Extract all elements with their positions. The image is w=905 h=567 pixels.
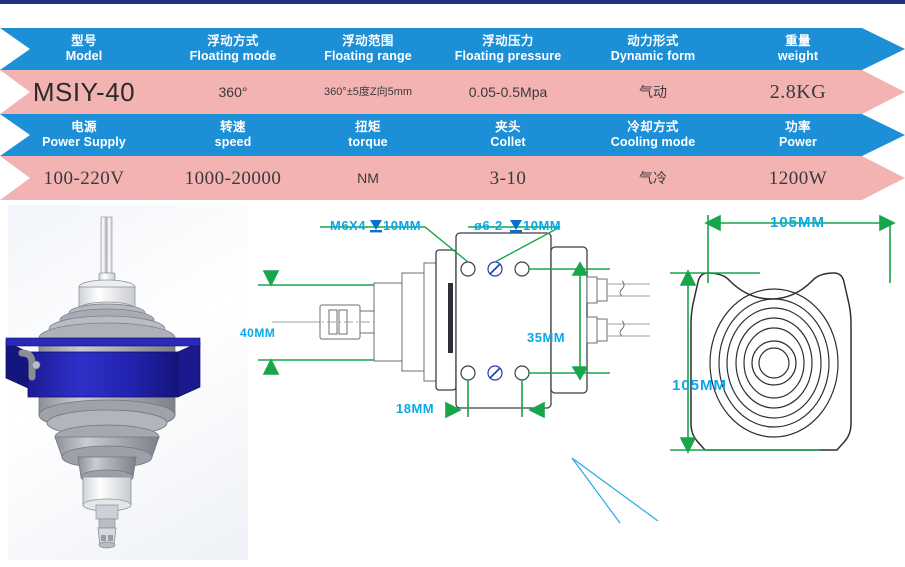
label-hole-spec: ø6-2: [474, 218, 503, 233]
value-cell-torque: NM: [298, 156, 438, 200]
header-en-label: Floating pressure: [455, 49, 562, 64]
header-cn-label: 转速: [220, 120, 246, 135]
value-cell-speed: 1000-20000: [168, 156, 298, 200]
header-cell-dynamic-form: 动力形式 Dynamic form: [578, 28, 728, 70]
label-shaft-length: 40MM: [240, 326, 275, 340]
header-cell-model: 型号 Model: [0, 28, 168, 70]
header-cn-label: 夹头: [495, 120, 521, 135]
header-en-label: Floating range: [324, 49, 412, 64]
value-text: NM: [357, 170, 379, 187]
spec-header-row-2: 电源 Power Supply 转速 speed 扭矩 torque 夹头 Co…: [0, 114, 905, 156]
header-cn-label: 浮动压力: [482, 34, 534, 49]
header-cn-label: 重量: [785, 34, 811, 49]
header-cell-floating-range: 浮动范围 Floating range: [298, 28, 438, 70]
value-text: 3-10: [490, 170, 527, 187]
header-cell-power-supply: 电源 Power Supply: [0, 114, 168, 156]
value-text: 360°: [219, 84, 248, 101]
label-front-height: 105MM: [672, 377, 727, 394]
header-en-label: Cooling mode: [611, 135, 696, 150]
header-en-label: Power: [779, 135, 817, 150]
header-en-label: Floating mode: [190, 49, 277, 64]
value-text: 0.05-0.5Mpa: [469, 84, 548, 101]
label-front-width: 105MM: [770, 214, 825, 231]
value-text: 气动: [639, 84, 667, 101]
value-cell-model: MSIY-40: [0, 70, 168, 114]
value-text: MSIY-40: [33, 84, 135, 101]
header-cell-collet: 夹头 Collet: [438, 114, 578, 156]
spec-value-row-1: MSIY-40 360° 360°±5度Z向5mm 0.05-0.5Mpa 气动…: [0, 70, 905, 114]
header-cell-speed: 转速 speed: [168, 114, 298, 156]
header-en-label: Power Supply: [42, 135, 126, 150]
product-3d-render: [0, 205, 260, 567]
illustration-area: 40MM M6X4 10MM ø6-2 10MM 35MM 18MM: [0, 205, 905, 567]
header-cn-label: 功率: [785, 120, 811, 135]
header-cn-label: 扭矩: [355, 120, 381, 135]
header-en-label: speed: [215, 135, 252, 150]
callout-leader-lines: [480, 445, 780, 567]
value-cell-weight: 2.8KG: [728, 70, 868, 114]
label-thread-spec: M6X4: [330, 218, 366, 233]
value-text: 360°±5度Z向5mm: [324, 84, 412, 101]
top-rule-divider: [0, 0, 905, 4]
spec-value-row-2: 100-220V 1000-20000 NM 3-10 气冷 1200W: [0, 156, 905, 200]
value-text: 1200W: [769, 170, 827, 187]
value-text: 2.8KG: [770, 84, 826, 101]
header-cell-floating-pressure: 浮动压力 Floating pressure: [438, 28, 578, 70]
depth-symbol-icon: [508, 217, 524, 234]
value-cell-power: 1200W: [728, 156, 868, 200]
header-en-label: weight: [778, 49, 818, 64]
header-cn-label: 电源: [71, 120, 97, 135]
label-hole-depth: 10MM: [523, 218, 561, 233]
label-body-height: 35MM: [527, 330, 565, 345]
value-cell-floating-pressure: 0.05-0.5Mpa: [438, 70, 578, 114]
label-thread-depth: 10MM: [383, 218, 421, 233]
header-en-label: Model: [66, 49, 103, 64]
value-cell-floating-range: 360°±5度Z向5mm: [298, 70, 438, 114]
main-body-geometry: [436, 233, 587, 408]
value-text: 气冷: [639, 170, 667, 187]
depth-symbol-icon: [368, 217, 384, 234]
specification-table: 型号 Model 浮动方式 Floating mode 浮动范围 Floatin…: [0, 28, 905, 200]
header-cn-label: 冷却方式: [627, 120, 679, 135]
header-cell-weight: 重量 weight: [728, 28, 868, 70]
header-cell-power: 功率 Power: [728, 114, 868, 156]
value-cell-dynamic-form: 气动: [578, 70, 728, 114]
value-cell-power-supply: 100-220V: [0, 156, 168, 200]
spindle-shaft-geometry: [272, 263, 436, 381]
value-cell-floating-mode: 360°: [168, 70, 298, 114]
spec-sheet-page: 型号 Model 浮动方式 Floating mode 浮动范围 Floatin…: [0, 0, 905, 567]
value-text: 1000-20000: [185, 170, 282, 187]
value-cell-cooling-mode: 气冷: [578, 156, 728, 200]
header-en-label: Collet: [490, 135, 525, 150]
header-cn-label: 浮动方式: [207, 34, 259, 49]
value-text: 100-220V: [43, 170, 124, 187]
spec-header-row-1: 型号 Model 浮动方式 Floating mode 浮动范围 Floatin…: [0, 28, 905, 70]
header-en-label: Dynamic form: [611, 49, 696, 64]
header-en-label: torque: [348, 135, 388, 150]
header-cn-label: 浮动范围: [342, 34, 394, 49]
label-bolt-spacing: 18MM: [396, 401, 434, 416]
header-cell-cooling-mode: 冷却方式 Cooling mode: [578, 114, 728, 156]
body-keyway: [448, 283, 453, 353]
header-cell-floating-mode: 浮动方式 Floating mode: [168, 28, 298, 70]
header-cn-label: 型号: [71, 34, 97, 49]
header-cell-torque: 扭矩 torque: [298, 114, 438, 156]
header-cn-label: 动力形式: [627, 34, 679, 49]
value-cell-collet: 3-10: [438, 156, 578, 200]
